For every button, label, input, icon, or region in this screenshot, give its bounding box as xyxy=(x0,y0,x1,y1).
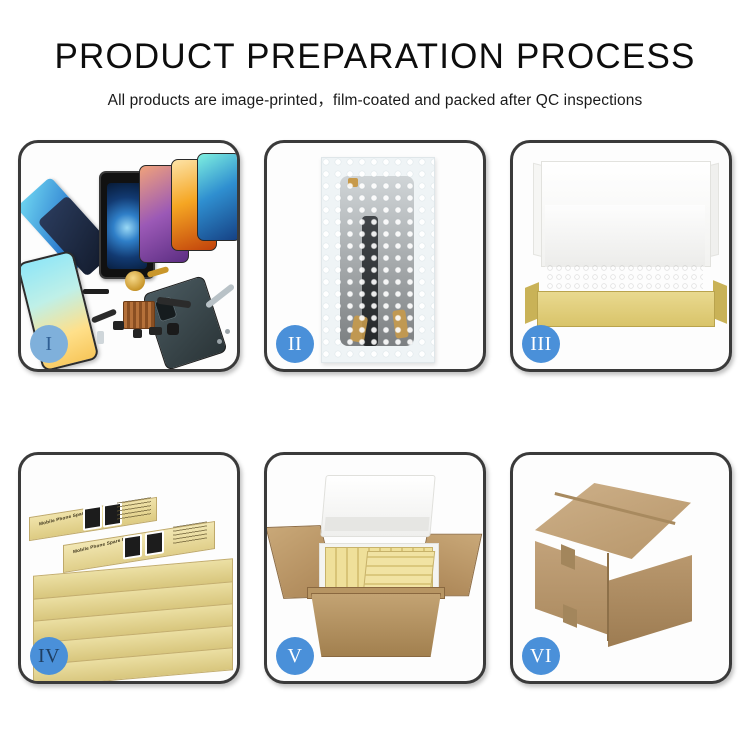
process-step-panel-2[interactable]: II xyxy=(264,140,486,372)
carton-front-panel xyxy=(311,593,441,657)
process-step-panel-4[interactable]: Mobile Phone Spare Parts Mobile Phone Sp… xyxy=(18,452,240,684)
carton-right-face xyxy=(608,555,692,647)
part-ic-chip-3 xyxy=(149,327,162,335)
foam-lid-edge xyxy=(324,517,429,531)
part-ic-chip-1 xyxy=(113,321,124,330)
step-badge-4: IV xyxy=(30,637,68,675)
bubble-wrap-bag xyxy=(321,157,435,363)
page-subtitle: All products are image-printed，film-coat… xyxy=(0,88,750,110)
phone-back-housing xyxy=(142,275,228,369)
step-badge-1: I xyxy=(30,325,68,363)
part-ic-chip-2 xyxy=(133,329,142,338)
process-step-panel-1[interactable]: I xyxy=(18,140,240,372)
step-badge-2: II xyxy=(276,325,314,363)
box-label-phone-image-1 xyxy=(83,505,102,531)
carton-vertical-edge xyxy=(607,553,609,641)
part-screw-1 xyxy=(217,339,222,344)
part-camera-module xyxy=(167,323,179,335)
part-screw-2 xyxy=(225,329,230,334)
bubble-texture-overlay xyxy=(322,158,434,362)
step-badge-3: III xyxy=(522,325,560,363)
page-title: PRODUCT PREPARATION PROCESS xyxy=(0,38,750,77)
step-badge-6: VI xyxy=(522,637,560,675)
box-label-spec-lines-rear xyxy=(117,497,151,520)
phone-teal-gradient xyxy=(197,153,237,241)
part-side-button xyxy=(97,331,104,344)
box-label-spec-lines-front xyxy=(173,521,207,544)
part-vibration-motor xyxy=(125,271,145,291)
white-foam-sheet xyxy=(545,205,705,267)
process-step-panel-3[interactable]: III xyxy=(510,140,732,372)
box-label-phone-image-3 xyxy=(123,534,142,560)
page-header: PRODUCT PREPARATION PROCESS All products… xyxy=(0,0,750,110)
box-side-right xyxy=(713,280,727,324)
process-step-grid: I II III xyxy=(18,140,732,684)
process-step-panel-6[interactable]: VI xyxy=(510,452,732,684)
yellow-box-front xyxy=(537,291,715,327)
part-copper-chip-grid xyxy=(123,301,155,329)
process-step-panel-5[interactable]: V xyxy=(264,452,486,684)
part-speaker-bar xyxy=(83,289,109,294)
box-label-phone-image-4 xyxy=(145,530,164,556)
step-badge-5: V xyxy=(276,637,314,675)
grey-bubble-contents xyxy=(547,265,703,293)
